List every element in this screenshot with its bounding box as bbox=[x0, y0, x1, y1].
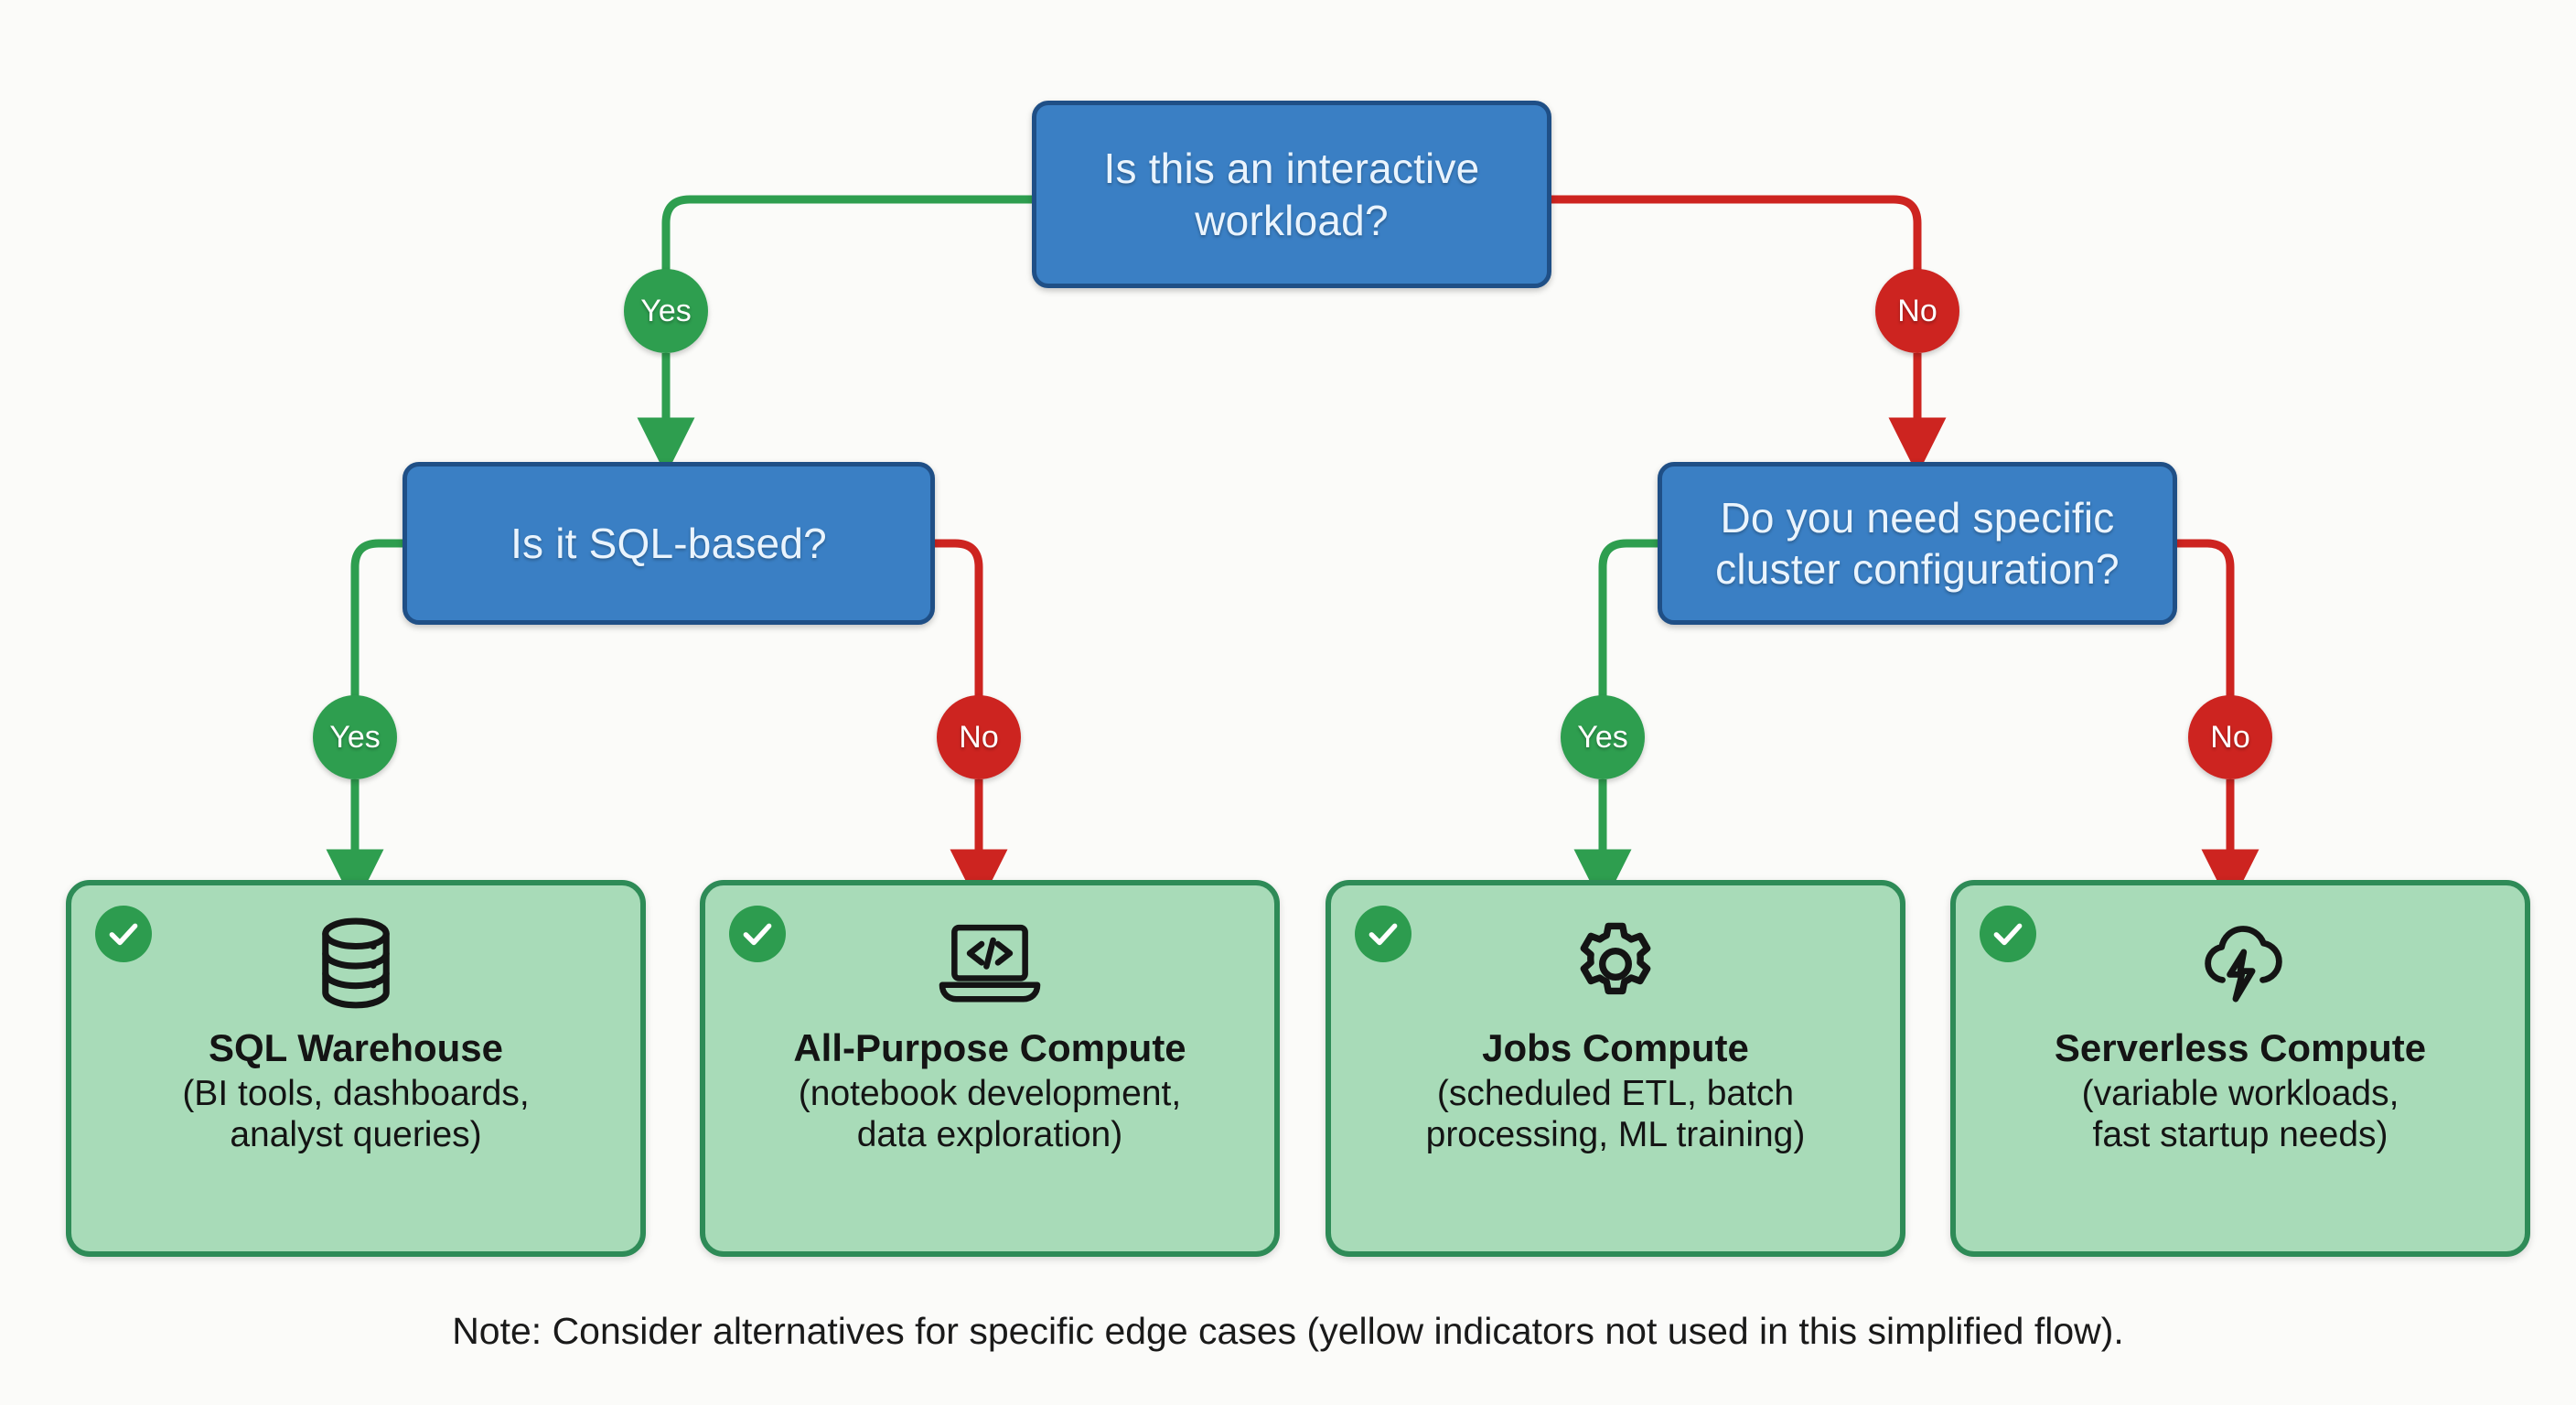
cloud-lightning-icon bbox=[2190, 915, 2291, 1014]
branch-label: Yes bbox=[640, 294, 691, 329]
laptop-code-icon bbox=[934, 915, 1046, 1014]
branch-badge-root-no[interactable]: No bbox=[1875, 269, 1959, 353]
decision-node-sql[interactable]: Is it SQL-based? bbox=[402, 462, 935, 625]
decision-node-root[interactable]: Is this an interactive workload? bbox=[1032, 101, 1551, 288]
decision-node-cluster[interactable]: Do you need specific cluster configurati… bbox=[1658, 462, 2177, 625]
branch-badge-root-yes[interactable]: Yes bbox=[624, 269, 708, 353]
check-icon bbox=[1355, 906, 1411, 962]
decision-sql-label: Is it SQL-based? bbox=[510, 518, 827, 569]
edge-cluster-yes bbox=[1603, 543, 1658, 695]
outcome-card-jobs-compute[interactable]: Jobs Compute (scheduled ETL, batch proce… bbox=[1326, 880, 1905, 1257]
outcome-subtitle: (variable workloads, fast startup needs) bbox=[2069, 1073, 2412, 1155]
outcome-title: SQL Warehouse bbox=[209, 1026, 503, 1069]
gear-icon bbox=[1568, 915, 1663, 1014]
footer-note: Note: Consider alternatives for specific… bbox=[0, 1310, 2576, 1353]
branch-badge-sql-yes[interactable]: Yes bbox=[313, 695, 397, 779]
check-icon bbox=[729, 906, 786, 962]
outcome-title: Serverless Compute bbox=[2055, 1026, 2426, 1069]
branch-label: Yes bbox=[329, 720, 380, 756]
branch-badge-cluster-no[interactable]: No bbox=[2188, 695, 2272, 779]
decision-root-label: Is this an interactive workload? bbox=[1057, 143, 1527, 245]
outcome-subtitle: (scheduled ETL, batch processing, ML tra… bbox=[1413, 1073, 1819, 1155]
flowchart-canvas: Is this an interactive workload? Is it S… bbox=[0, 0, 2576, 1405]
edge-cluster-no bbox=[2177, 543, 2230, 695]
branch-badge-cluster-yes[interactable]: Yes bbox=[1561, 695, 1645, 779]
edge-root-yes bbox=[666, 199, 1032, 269]
check-icon bbox=[1980, 906, 2036, 962]
edge-sql-no bbox=[935, 543, 979, 695]
outcome-card-serverless-compute[interactable]: Serverless Compute (variable workloads, … bbox=[1950, 880, 2530, 1257]
edge-sql-yes bbox=[355, 543, 402, 695]
outcome-title: All-Purpose Compute bbox=[793, 1026, 1186, 1069]
branch-label: No bbox=[1897, 294, 1937, 329]
database-icon bbox=[310, 915, 402, 1014]
check-icon bbox=[95, 906, 152, 962]
branch-badge-sql-no[interactable]: No bbox=[937, 695, 1021, 779]
branch-label: No bbox=[959, 720, 998, 756]
branch-label: Yes bbox=[1577, 720, 1627, 756]
decision-cluster-label: Do you need specific cluster configurati… bbox=[1682, 492, 2152, 595]
outcome-subtitle: (BI tools, dashboards, analyst queries) bbox=[169, 1073, 542, 1155]
outcome-card-all-purpose-compute[interactable]: All-Purpose Compute (notebook developmen… bbox=[700, 880, 1280, 1257]
outcome-subtitle: (notebook development, data exploration) bbox=[786, 1073, 1194, 1155]
branch-label: No bbox=[2210, 720, 2249, 756]
outcome-title: Jobs Compute bbox=[1482, 1026, 1749, 1069]
outcome-card-sql-warehouse[interactable]: SQL Warehouse (BI tools, dashboards, ana… bbox=[66, 880, 646, 1257]
edge-root-no bbox=[1551, 199, 1917, 269]
